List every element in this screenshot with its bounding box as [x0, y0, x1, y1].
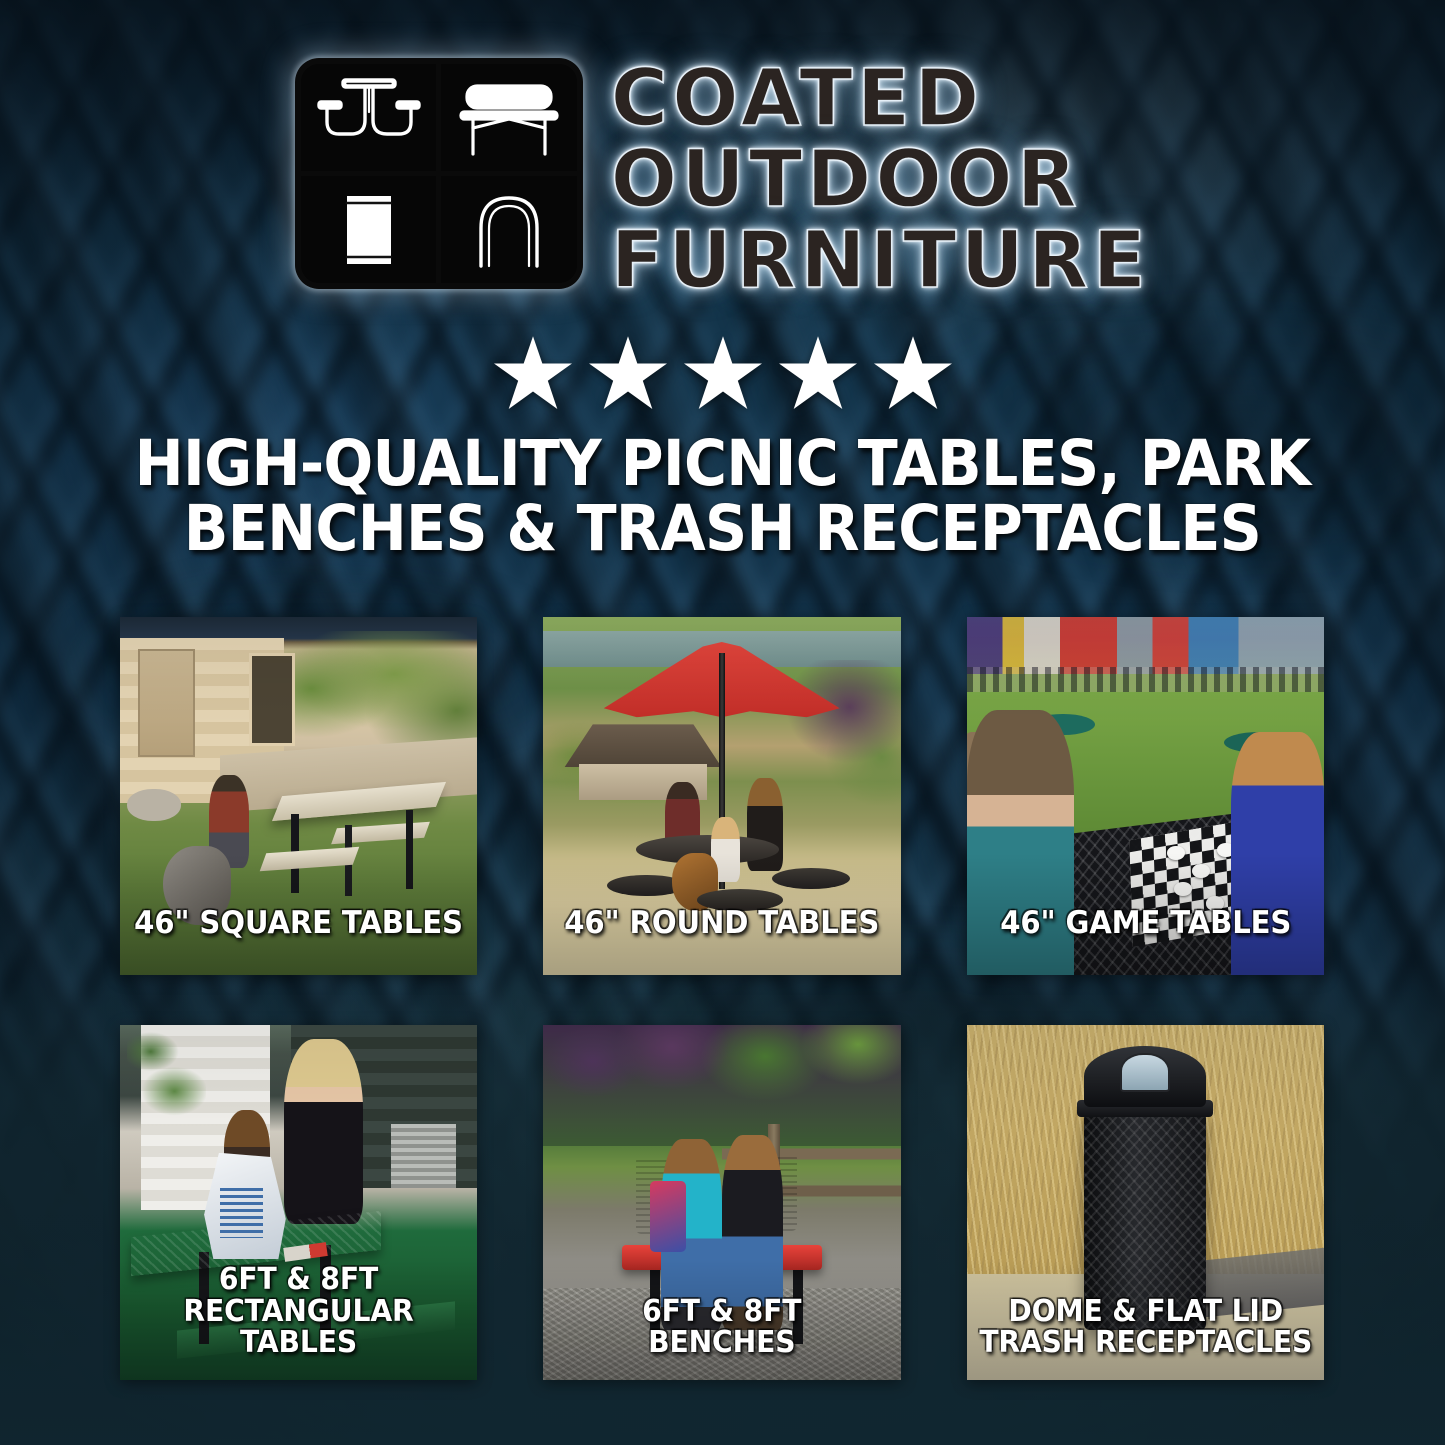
coated-outdoor-furniture-logo[interactable]: [295, 58, 583, 289]
star-icon: [589, 336, 667, 410]
product-caption-line-1: 46" ROUND TABLES: [564, 905, 879, 941]
marketing-poster: COATED OUTDOOR FURNITURE HIGH-QUALITY PI…: [0, 0, 1445, 1445]
brand-name-line-1: COATED: [611, 62, 1150, 137]
product-caption-line-1: 46" SQUARE TABLES: [134, 905, 463, 941]
star-icon: [779, 336, 857, 410]
brand-header: COATED OUTDOOR FURNITURE: [0, 58, 1445, 299]
product-caption: 46" GAME TABLES: [977, 907, 1313, 939]
product-caption-line-1: 6FT & 8FT: [219, 1262, 378, 1297]
star-icon: [874, 336, 952, 410]
product-caption: 46" ROUND TABLES: [554, 907, 890, 939]
product-caption: 6FT & 8FT BENCHES: [554, 1296, 890, 1358]
headline: HIGH-QUALITY PICNIC TABLES, PARK BENCHES…: [106, 432, 1338, 562]
product-caption: 46" SQUARE TABLES: [131, 907, 467, 939]
product-caption: DOME & FLAT LID TRASH RECEPTACLES: [977, 1296, 1313, 1358]
star-rating: [0, 336, 1445, 410]
bike-rack-icon: [441, 176, 577, 283]
headline-line-1: HIGH-QUALITY PICNIC TABLES, PARK: [106, 432, 1338, 497]
product-caption-line-1: 6FT & 8FT: [642, 1294, 801, 1329]
star-icon: [684, 336, 762, 410]
product-tile-square-tables[interactable]: 46" SQUARE TABLES: [120, 617, 477, 975]
product-caption-line-1: 46" GAME TABLES: [1000, 905, 1291, 941]
product-tile-game-tables[interactable]: 46" GAME TABLES: [967, 617, 1325, 975]
product-caption-line-2: RECTANGULAR TABLES: [183, 1294, 413, 1360]
product-tile-round-tables[interactable]: 46" ROUND TABLES: [543, 617, 901, 975]
park-bench-icon: [441, 64, 577, 171]
trash-receptacle-icon: [301, 176, 437, 283]
star-icon: [494, 336, 572, 410]
product-caption-line-2: BENCHES: [648, 1325, 795, 1360]
product-tile-rectangular-tables[interactable]: 6FT & 8FT RECTANGULAR TABLES: [120, 1025, 477, 1380]
brand-wordmark: COATED OUTDOOR FURNITURE: [611, 58, 1150, 299]
product-tile-benches[interactable]: 6FT & 8FT BENCHES: [543, 1025, 901, 1380]
product-caption-line-2: TRASH RECEPTACLES: [979, 1325, 1312, 1360]
headline-line-2: BENCHES & TRASH RECEPTACLES: [106, 497, 1338, 562]
picnic-table-icon: [301, 64, 437, 171]
product-caption-line-1: DOME & FLAT LID: [1008, 1294, 1283, 1329]
brand-name-line-3: FURNITURE: [611, 224, 1150, 299]
product-grid: 46" SQUARE TABLES 46" ROUND TABLES: [120, 617, 1324, 1380]
product-tile-trash-receptacles[interactable]: DOME & FLAT LID TRASH RECEPTACLES: [967, 1025, 1325, 1380]
product-caption: 6FT & 8FT RECTANGULAR TABLES: [131, 1264, 467, 1358]
brand-name-line-2: OUTDOOR: [611, 143, 1150, 218]
